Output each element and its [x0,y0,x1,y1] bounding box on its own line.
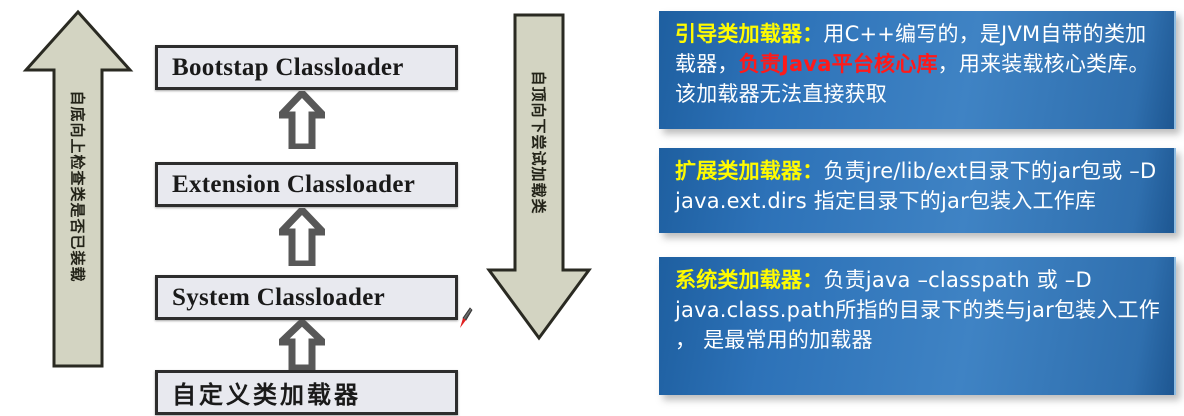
callout-extension-colon: ： [802,159,823,183]
callout-system-colon: ： [802,268,823,292]
callout-bootstrap-title: 引导类加载器 [675,22,802,46]
callout-bootstrap-colon: ： [802,22,823,46]
callout-system-title: 系统类加载器 [675,268,802,292]
callout-panel: 引导类加载器：用C++编写的，是JVM自带的类加载器，负责Java平台核心库，用… [0,0,1184,416]
callout-bootstrap-highlight: 负责Java平台核心库 [739,52,938,76]
callout-system-classloader[interactable]: 系统类加载器：负责java –classpath 或 –D java.class… [659,257,1176,395]
callout-extension-title: 扩展类加载器 [675,159,802,183]
callout-bootstrap-classloader[interactable]: 引导类加载器：用C++编写的，是JVM自带的类加载器，负责Java平台核心库，用… [659,11,1176,129]
callout-extension-classloader[interactable]: 扩展类加载器：负责jre/lib/ext目录下的jar包或 –D java.ex… [659,148,1176,233]
